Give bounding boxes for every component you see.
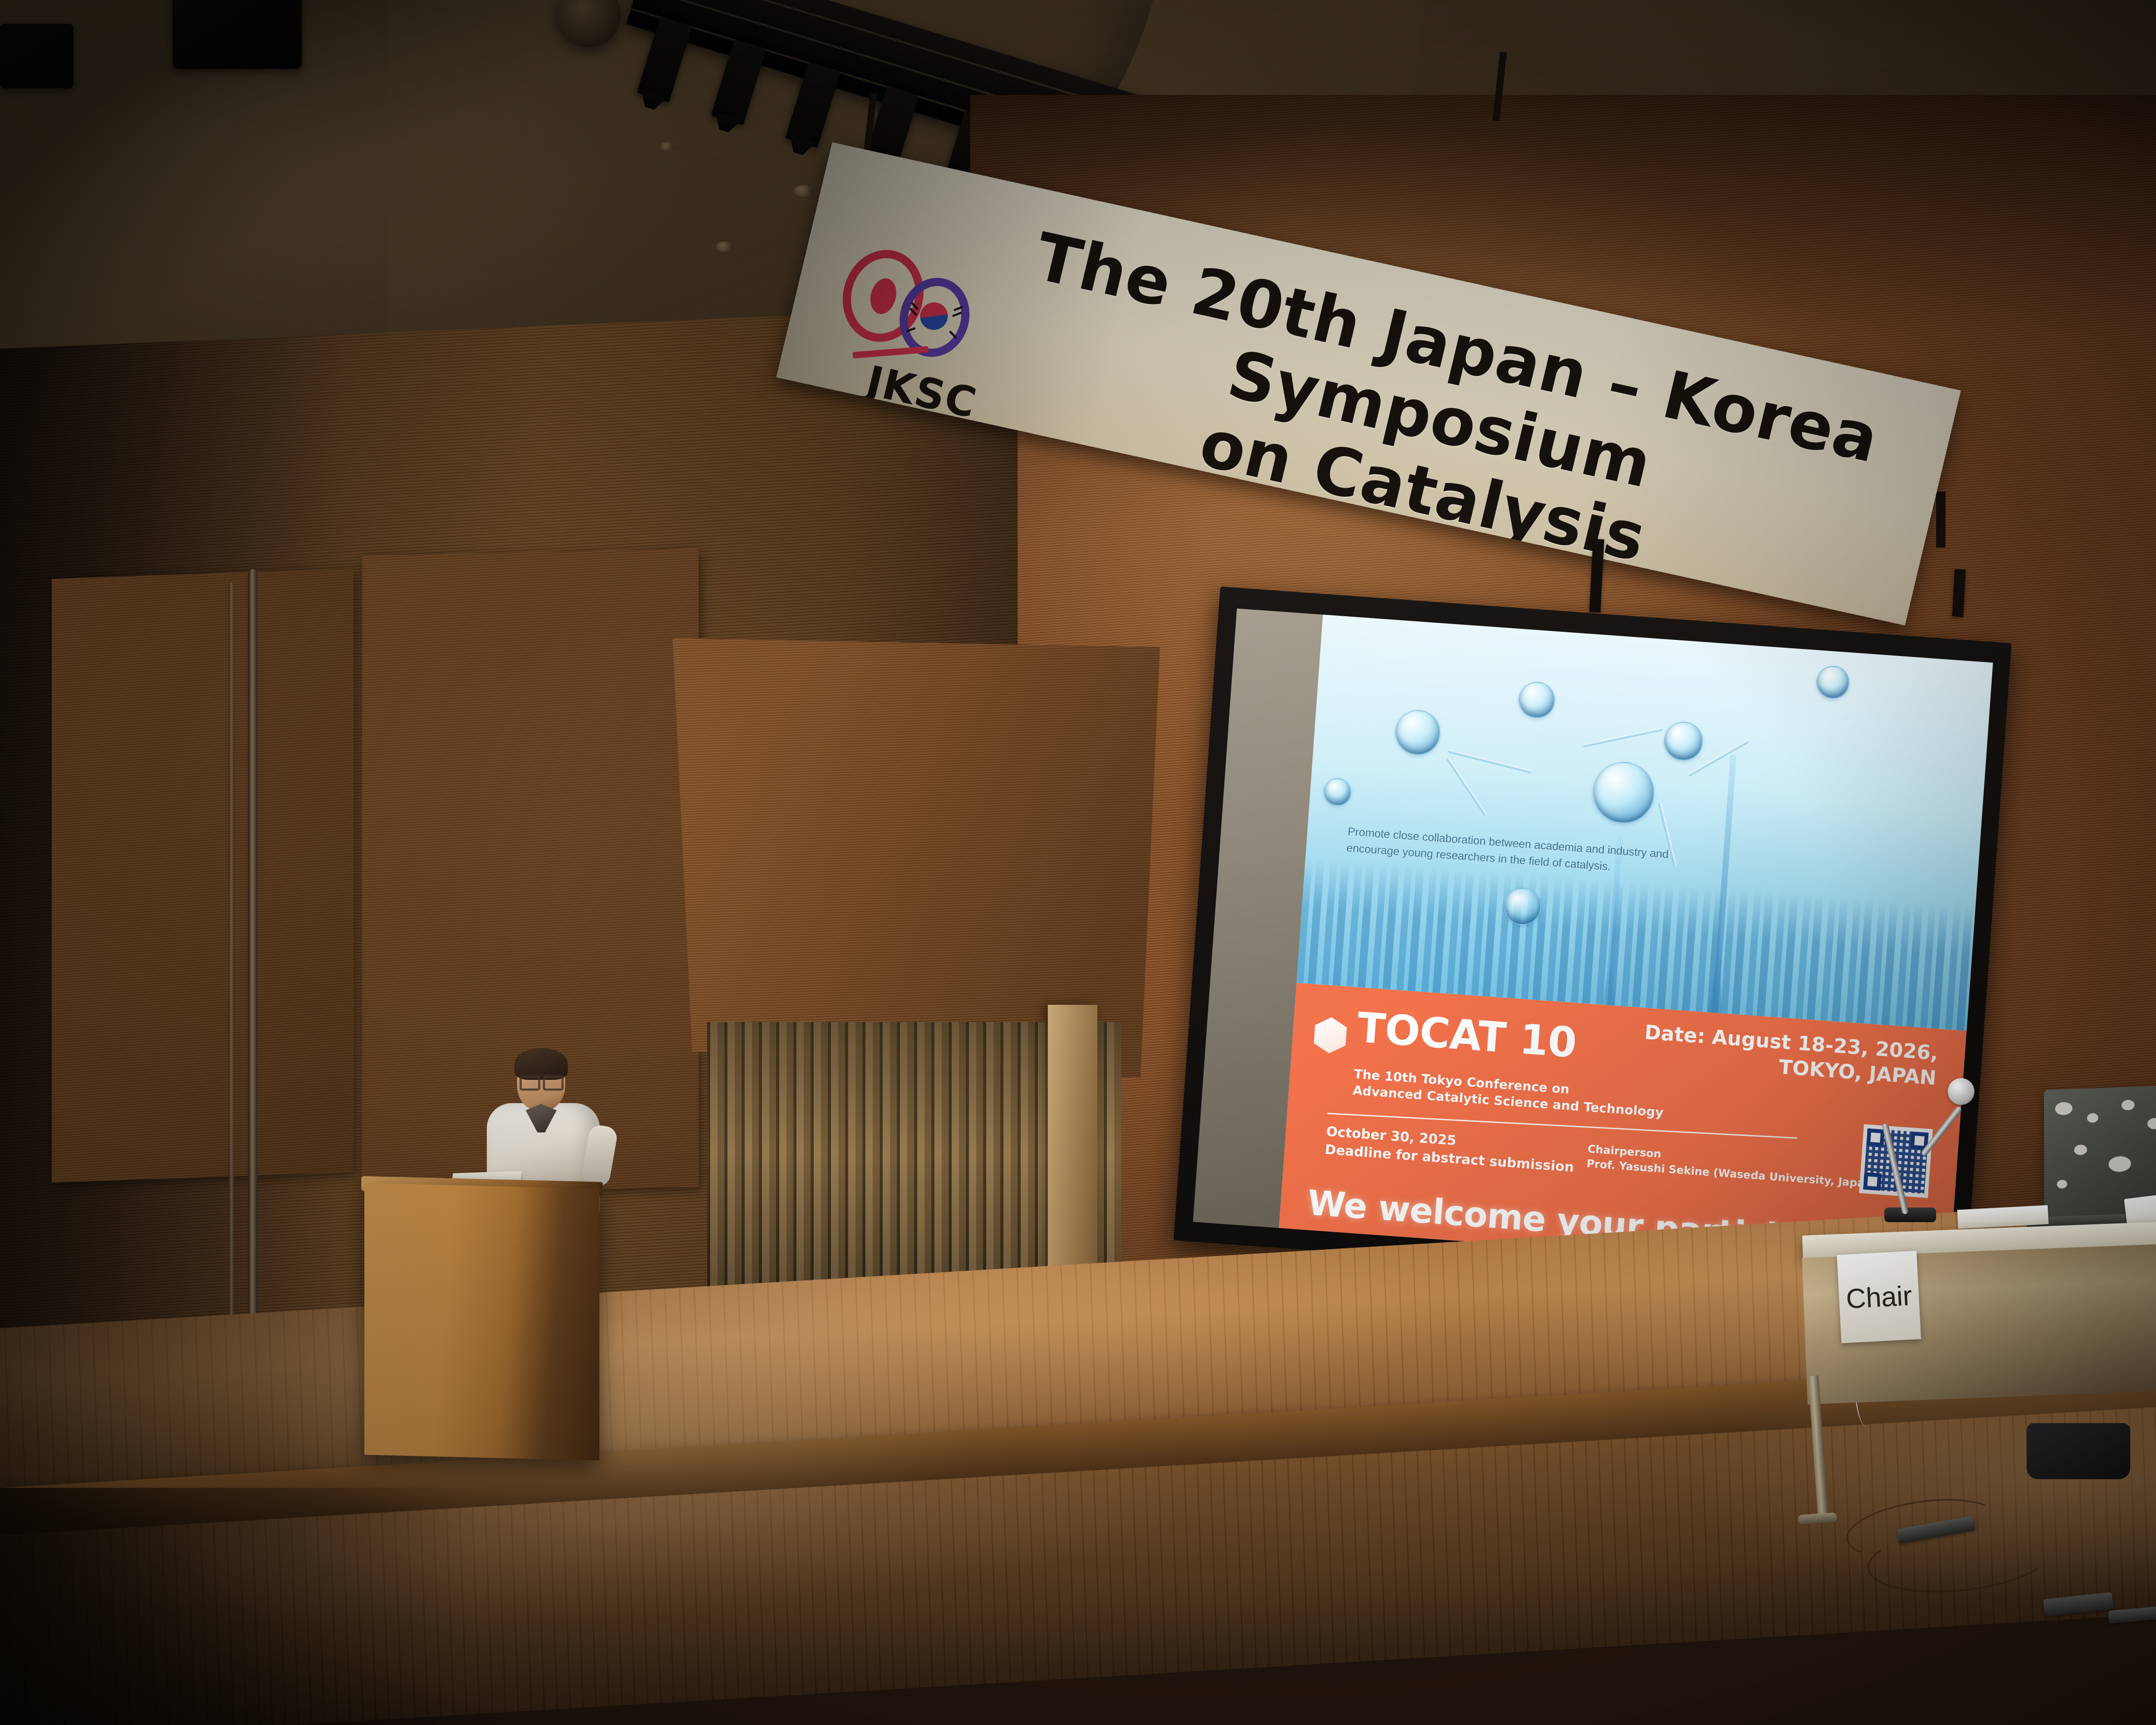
taegeuk-trigram bbox=[909, 307, 918, 316]
presentation-slide: Promote close collaboration between acad… bbox=[1279, 615, 1993, 1276]
tocat-hexagon-logo bbox=[1313, 1016, 1347, 1054]
bag-under-table bbox=[2027, 1423, 2130, 1479]
taegeuk-trigram bbox=[906, 327, 915, 332]
slide-illustration: Promote close collaboration between acad… bbox=[1297, 615, 1993, 1031]
ceiling-recessed-light bbox=[793, 185, 813, 197]
molecule-node bbox=[1663, 721, 1704, 762]
jksc-logo: JKSC bbox=[818, 241, 990, 411]
screen-surface: Promote close collaboration between acad… bbox=[1193, 608, 1993, 1276]
auditorium-stage-photo: The 20th Japan – Korea Symposium on Cata… bbox=[0, 0, 2156, 1725]
laptop-sticker bbox=[2087, 1113, 2098, 1123]
molecule-bond bbox=[1448, 750, 1532, 774]
chair-name-plate-label: Chair bbox=[1845, 1280, 1913, 1315]
molecule-node bbox=[1394, 709, 1442, 756]
taegeuk-trigram bbox=[953, 306, 963, 311]
laptop-sticker bbox=[2147, 1118, 2156, 1129]
banner-mount bbox=[1936, 492, 1946, 548]
taegeuk-trigram bbox=[911, 302, 919, 310]
microphone-base bbox=[1884, 1207, 1936, 1222]
laptop-sticker bbox=[2122, 1100, 2134, 1110]
tocat-brand: TOCAT 10 bbox=[1356, 1007, 1577, 1064]
tocat-subtitle: The 10th Tokyo Conference on Advanced Ca… bbox=[1352, 1066, 1665, 1121]
stage-pole bbox=[229, 582, 235, 1354]
qr-finder bbox=[1863, 1173, 1882, 1191]
acoustic-panel bbox=[52, 568, 354, 1182]
lectern bbox=[364, 1183, 599, 1460]
tocat-deadline: October 30, 2025 Deadline for abstract s… bbox=[1324, 1123, 1576, 1177]
taegeuk-trigram bbox=[952, 312, 962, 317]
laptop-sticker bbox=[2109, 1156, 2131, 1172]
ceiling-recessed-light bbox=[716, 241, 733, 252]
ceiling-recessed-light bbox=[660, 142, 674, 151]
molecule-node bbox=[1518, 681, 1557, 719]
korea-flag-icon bbox=[917, 300, 950, 332]
jksc-slash bbox=[852, 346, 928, 359]
jksc-ring-korea bbox=[892, 271, 978, 364]
glasses-icon bbox=[520, 1075, 564, 1085]
tocat-date: Date: August 18-23, 2026, TOKYO, JAPAN bbox=[1627, 1019, 1939, 1091]
molecule-node bbox=[1323, 778, 1352, 807]
japan-flag-icon bbox=[867, 276, 899, 317]
molecule-node bbox=[1815, 665, 1850, 700]
microphone-icon bbox=[1948, 1078, 1974, 1105]
laptop-sticker bbox=[2055, 1102, 2072, 1115]
chair-name-plate: Chair bbox=[1837, 1251, 1921, 1343]
molecule-bond bbox=[1446, 757, 1487, 816]
taegeuk-trigram bbox=[949, 330, 957, 339]
tocat-chairperson: Chairperson Prof. Yasushi Sekine (Waseda… bbox=[1586, 1142, 1878, 1192]
laptop-sticker bbox=[2074, 1145, 2087, 1155]
qr-finder bbox=[1866, 1129, 1885, 1147]
molecule-node-main bbox=[1591, 760, 1657, 825]
jksc-ring-japan bbox=[834, 242, 933, 350]
stage-light-icon bbox=[172, 0, 302, 69]
stage-pole bbox=[248, 569, 257, 1354]
stage-light-icon bbox=[0, 24, 73, 88]
projection-screen: Promote close collaboration between acad… bbox=[1173, 586, 2012, 1297]
molecule-bond bbox=[1583, 728, 1663, 747]
laptop-sticker bbox=[2057, 1179, 2067, 1189]
